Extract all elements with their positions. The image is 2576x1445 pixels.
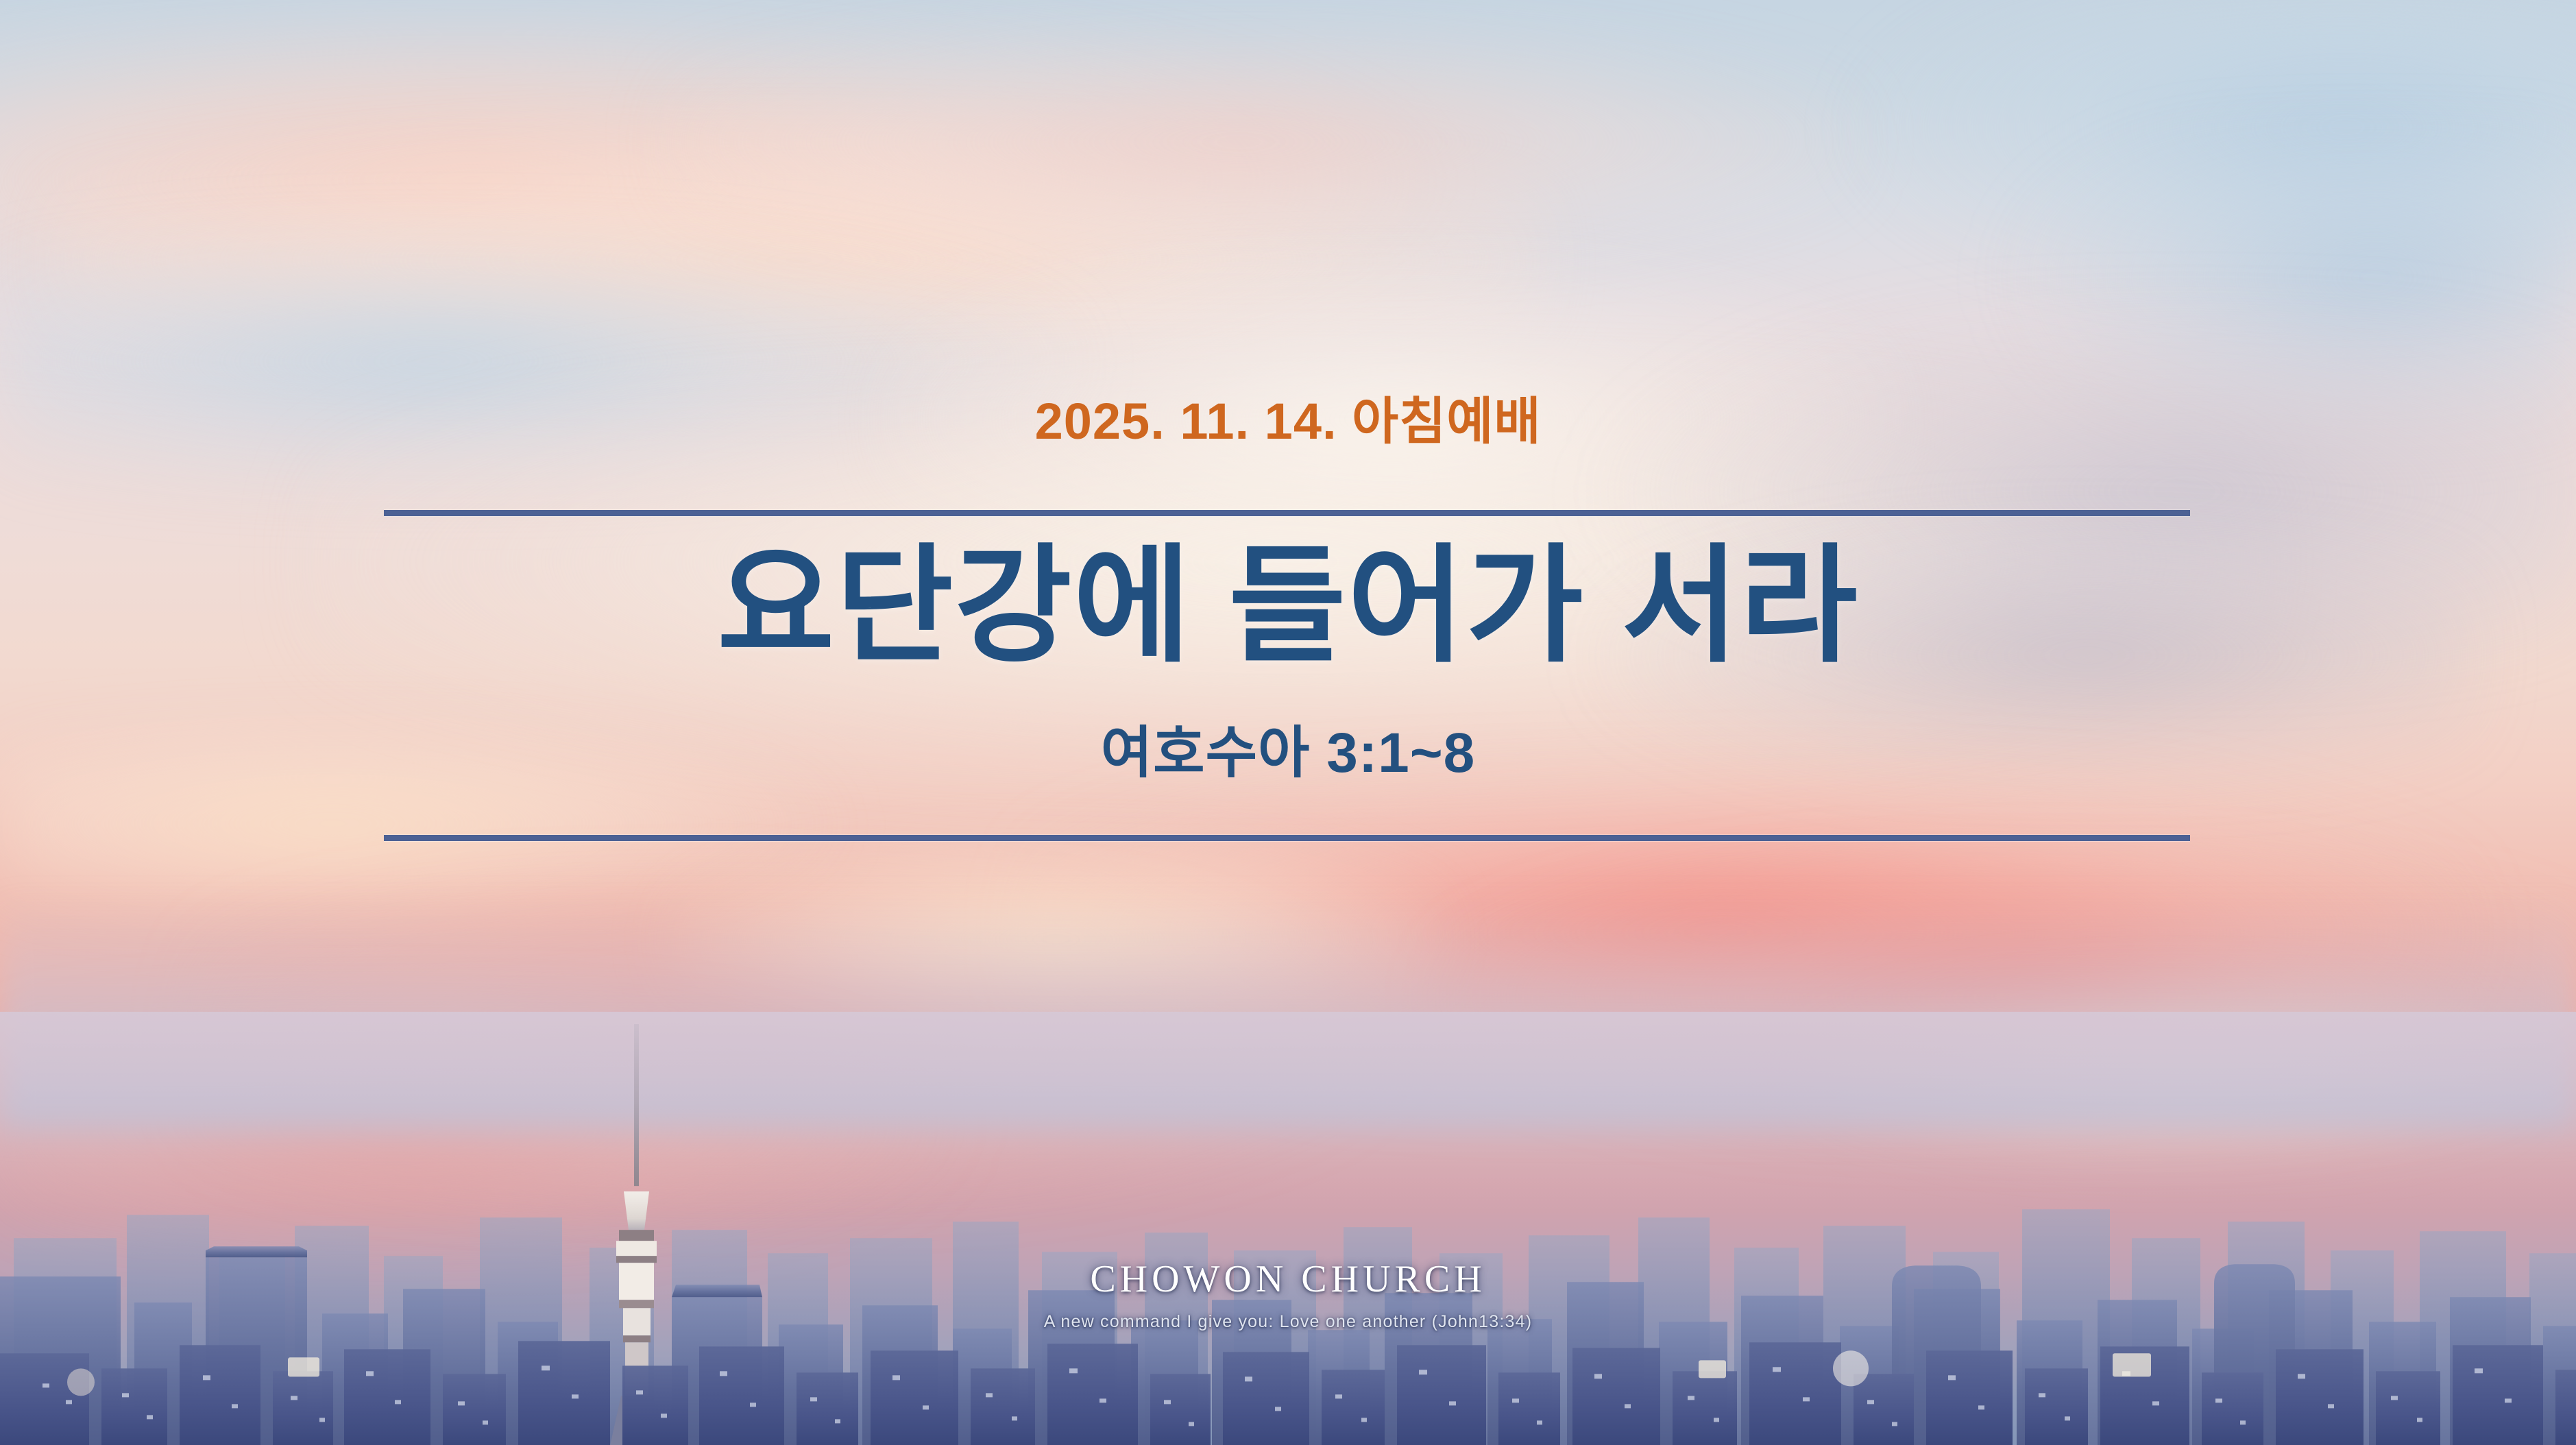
- slide-content: 2025. 11. 14. 아침예배 요단강에 들어가 서라 여호수아 3:1~…: [0, 0, 2576, 1445]
- service-date: 2025. 11. 14. 아침예배: [0, 396, 2576, 447]
- divider-bottom: [384, 835, 2190, 841]
- church-name: CHOWON CHURCH: [0, 1260, 2576, 1298]
- scripture-reference: 여호수아 3:1~8: [0, 725, 2576, 781]
- church-logo: CHOWON CHURCH A new command I give you: …: [0, 1260, 2576, 1331]
- divider-top: [384, 510, 2190, 516]
- church-tagline: A new command I give you: Love one anoth…: [0, 1313, 2576, 1331]
- sermon-title: 요단강에 들어가 서라: [0, 542, 2576, 672]
- sermon-slide: 2025. 11. 14. 아침예배 요단강에 들어가 서라 여호수아 3:1~…: [0, 0, 2576, 1445]
